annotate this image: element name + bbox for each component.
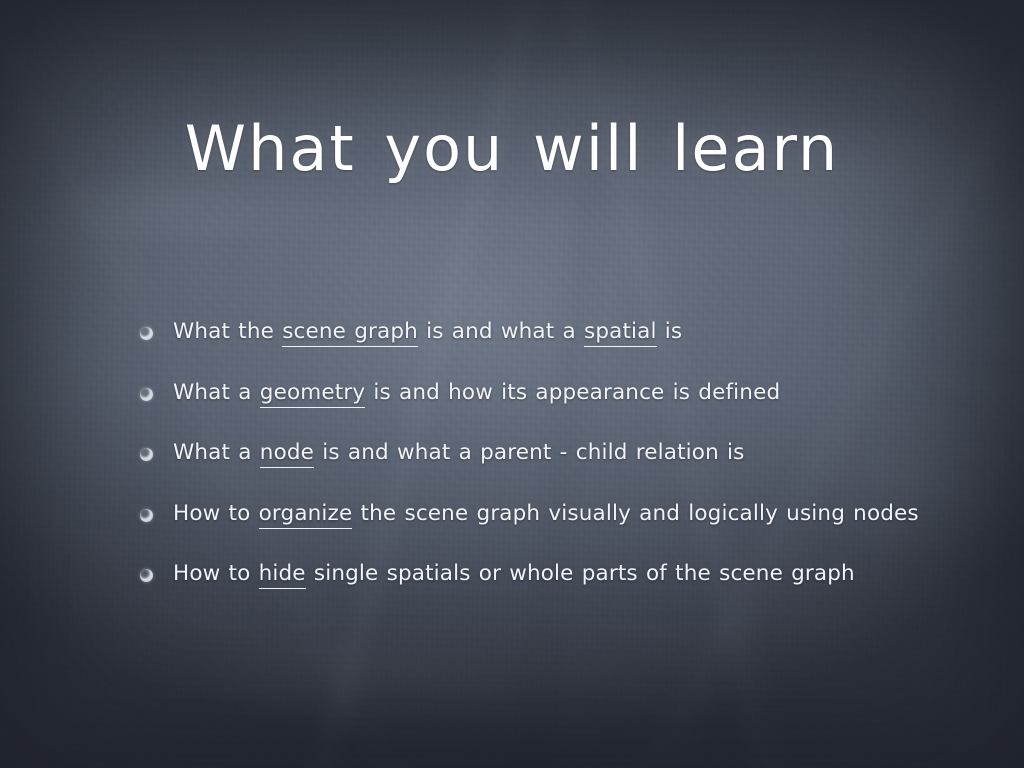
list-item: What a node is and what a parent - child… xyxy=(140,439,984,500)
chalk-dot-icon xyxy=(140,509,153,522)
bullet-organize: How to organize the scene graph visually… xyxy=(173,500,919,528)
underlined-term: node xyxy=(260,440,314,468)
chalk-dot-icon xyxy=(140,448,153,461)
bullet-text-segment: What a xyxy=(173,380,260,405)
bullet-scene-graph: What the scene graph is and what a spati… xyxy=(173,318,682,346)
bullet-geometry: What a geometry is and how its appearanc… xyxy=(173,379,780,407)
bullet-text-segment: How to xyxy=(173,561,259,586)
bullet-text-segment: is and what a parent - child relation is xyxy=(314,440,744,465)
bullet-text-segment: What the xyxy=(173,319,282,344)
bullet-text-segment: is xyxy=(657,319,683,344)
slide-title: What you will learn xyxy=(0,116,1024,181)
underlined-term: geometry xyxy=(260,380,365,408)
list-item: How to hide single spatials or whole par… xyxy=(140,560,984,621)
chalk-dot-icon xyxy=(140,569,153,582)
bullet-text-segment: single spatials or whole parts of the sc… xyxy=(306,561,855,586)
list-item: What the scene graph is and what a spati… xyxy=(140,318,984,379)
chalk-dot-icon xyxy=(140,388,153,401)
bullet-text-segment: the scene graph visually and logically u… xyxy=(352,501,918,526)
bullet-text-segment: is and what a xyxy=(418,319,584,344)
list-item: What a geometry is and how its appearanc… xyxy=(140,379,984,440)
list-item: How to organize the scene graph visually… xyxy=(140,500,984,561)
chalk-dot-icon xyxy=(140,327,153,340)
underlined-term: organize xyxy=(259,501,353,529)
underlined-term: scene graph xyxy=(282,319,418,347)
presentation-slide: What you will learn What the scene graph… xyxy=(0,0,1024,768)
bullet-hide: How to hide single spatials or whole par… xyxy=(173,560,855,588)
bullet-text-segment: How to xyxy=(173,501,259,526)
bullet-text-segment: is and how its appearance is defined xyxy=(365,380,780,405)
underlined-term: spatial xyxy=(584,319,657,347)
bullet-node: What a node is and what a parent - child… xyxy=(173,439,745,467)
bullet-list: What the scene graph is and what a spati… xyxy=(140,318,984,621)
bullet-text-segment: What a xyxy=(173,440,260,465)
underlined-term: hide xyxy=(259,561,306,589)
